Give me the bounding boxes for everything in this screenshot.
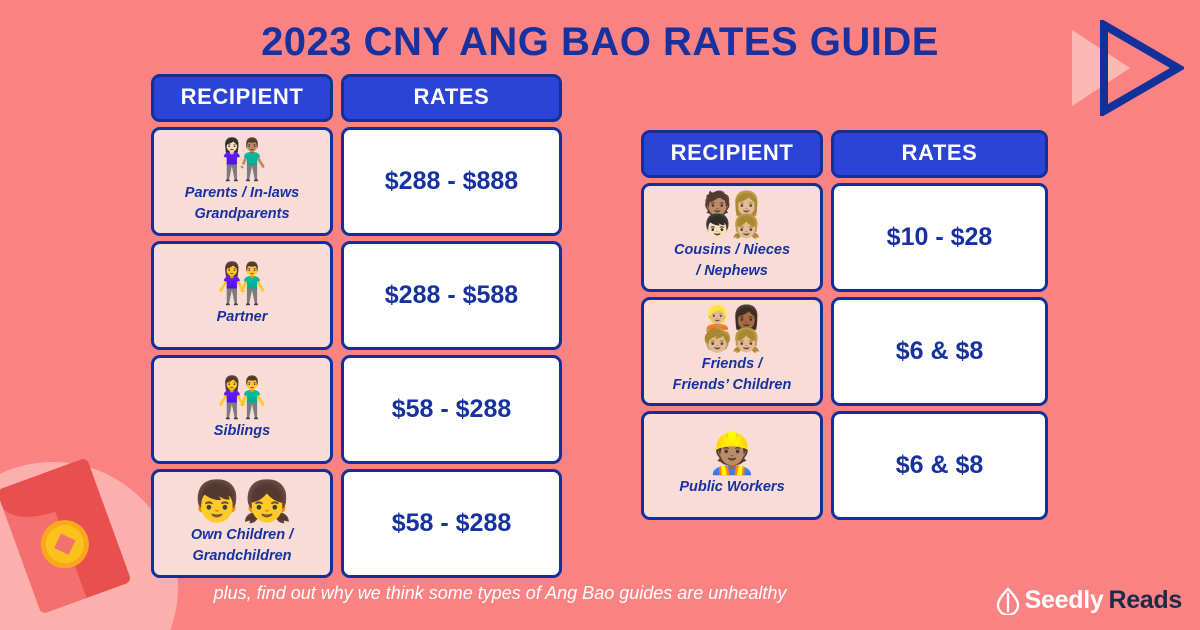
recipient-label-line-1: Siblings xyxy=(214,421,270,441)
table-right-header-recipient: RECIPIENT xyxy=(641,130,823,178)
recipient-cell: 👩🏻‍🤝‍👨🏽 Parents / In-laws Grandparents xyxy=(151,127,333,236)
recipient-label-line-1: Partner xyxy=(217,307,268,327)
recipient-cell: 👱🏼👩🏾 🧒🏼👧🏼 Friends / Friends’ Children xyxy=(641,297,823,406)
siblings-icon: 👫 xyxy=(217,376,267,420)
table-row: 👫 Siblings $58 - $288 xyxy=(151,355,562,464)
seedly-reads-logo: Seedly Reads xyxy=(996,586,1182,615)
recipient-cell: 👫 Siblings xyxy=(151,355,333,464)
table-right-header-rates: RATES xyxy=(831,130,1048,178)
recipient-label-line-2: Grandchildren xyxy=(192,546,291,566)
table-left-header-row: RECIPIENT RATES xyxy=(151,74,562,122)
recipient-cell: 👦👧 Own Children / Grandchildren xyxy=(151,469,333,578)
recipient-label-line-1: Public Workers xyxy=(679,477,784,497)
older-couple-icon: 👩🏻‍🤝‍👨🏽 xyxy=(217,138,267,182)
rate-cell: $58 - $288 xyxy=(341,469,562,578)
recipient-label-line-1: Own Children / xyxy=(191,525,293,545)
friends-group-icon: 👱🏼👩🏾 🧒🏼👧🏼 xyxy=(703,306,760,353)
rate-cell: $288 - $588 xyxy=(341,241,562,350)
coin-center xyxy=(54,534,75,555)
extended-family-icon-row-1: 🧑🏽👩🏼 xyxy=(703,193,760,216)
children-icon: 👦👧 xyxy=(192,480,292,524)
recipient-cell: 👷🏽 Public Workers xyxy=(641,411,823,520)
recipient-cell: 👫 Partner xyxy=(151,241,333,350)
table-row: 🧑🏽👩🏼 👦🏻👧🏼 Cousins / Nieces / Nephews $10… xyxy=(641,183,1048,292)
brand-name-seedly: Seedly xyxy=(1025,586,1104,615)
footer-note: plus, find out why we think some types o… xyxy=(0,583,1000,604)
holding-hands-icon: 👫 xyxy=(217,262,267,306)
recipient-label-line-2: / Nephews xyxy=(696,261,768,281)
extended-family-icon: 🧑🏽👩🏼 👦🏻👧🏼 xyxy=(703,192,760,239)
table-row: 👩🏻‍🤝‍👨🏽 Parents / In-laws Grandparents $… xyxy=(151,127,562,236)
table-row: 👦👧 Own Children / Grandchildren $58 - $2… xyxy=(151,469,562,578)
rates-table-right: RECIPIENT RATES 🧑🏽👩🏼 👦🏻👧🏼 Cousins / Niec… xyxy=(641,130,1048,520)
recipient-label-line-1: Friends / xyxy=(702,354,762,374)
recipient-label-line-2: Grandparents xyxy=(194,204,289,224)
seedly-leaf-icon xyxy=(996,587,1020,615)
brand-name-reads: Reads xyxy=(1108,586,1182,615)
friends-group-icon-row-2: 🧒🏼👧🏼 xyxy=(703,330,760,353)
infographic-canvas: 2023 CNY ANG BAO RATES GUIDE RECIPIENT R… xyxy=(0,0,1200,630)
rate-cell: $10 - $28 xyxy=(831,183,1048,292)
friends-group-icon-row-1: 👱🏼👩🏾 xyxy=(703,307,760,330)
table-right-header-row: RECIPIENT RATES xyxy=(641,130,1048,178)
recipient-label-line-2: Friends’ Children xyxy=(673,375,792,395)
table-row: 👫 Partner $288 - $588 xyxy=(151,241,562,350)
recipient-label-line-1: Parents / In-laws xyxy=(185,183,299,203)
recipient-label-line-1: Cousins / Nieces xyxy=(674,240,790,260)
extended-family-icon-row-2: 👦🏻👧🏼 xyxy=(703,216,760,239)
rate-cell: $6 & $8 xyxy=(831,411,1048,520)
rates-table-left: RECIPIENT RATES 👩🏻‍🤝‍👨🏽 Parents / In-law… xyxy=(151,74,562,578)
table-left-header-recipient: RECIPIENT xyxy=(151,74,333,122)
construction-worker-icon: 👷🏽 xyxy=(707,432,757,476)
table-left-header-rates: RATES xyxy=(341,74,562,122)
rate-cell: $58 - $288 xyxy=(341,355,562,464)
recipient-cell: 🧑🏽👩🏼 👦🏻👧🏼 Cousins / Nieces / Nephews xyxy=(641,183,823,292)
table-row: 👷🏽 Public Workers $6 & $8 xyxy=(641,411,1048,520)
table-row: 👱🏼👩🏾 🧒🏼👧🏼 Friends / Friends’ Children $6… xyxy=(641,297,1048,406)
page-title: 2023 CNY ANG BAO RATES GUIDE xyxy=(0,20,1200,65)
rate-cell: $288 - $888 xyxy=(341,127,562,236)
rate-cell: $6 & $8 xyxy=(831,297,1048,406)
